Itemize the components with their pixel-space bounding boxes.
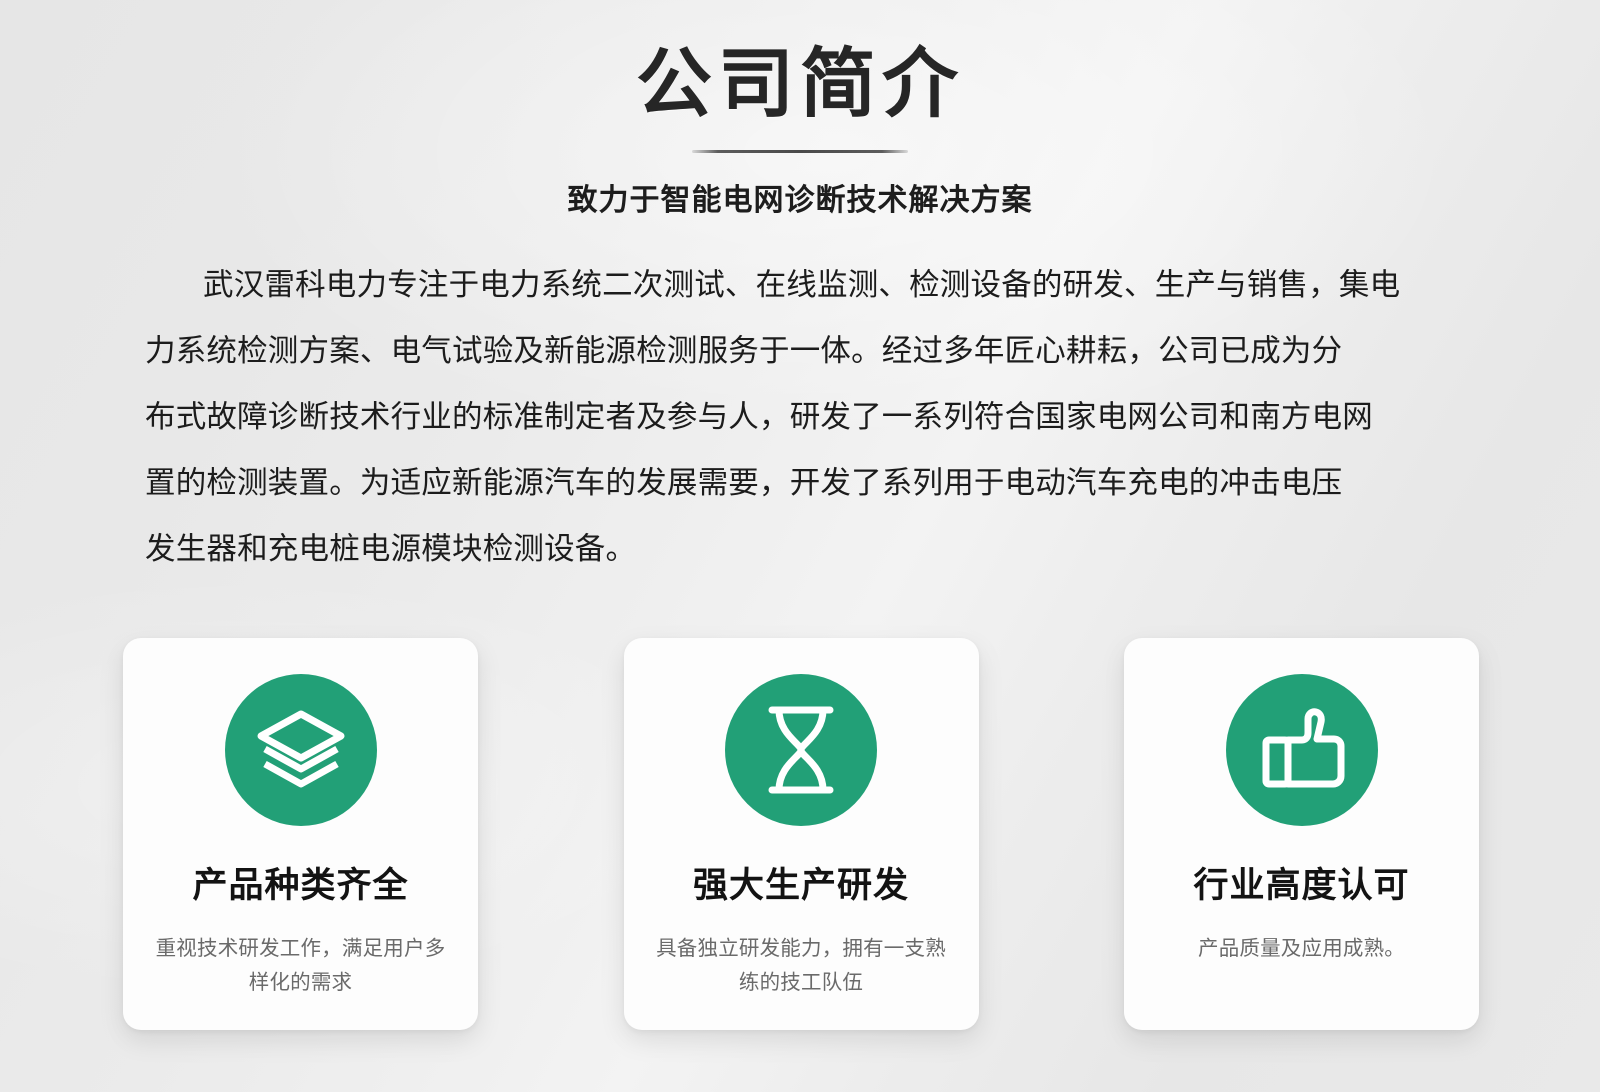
icon-badge	[725, 674, 877, 826]
feature-card-desc: 重视技术研发工作，满足用户多样化的需求	[151, 932, 451, 1000]
section-header: 公司简介 致力于智能电网诊断技术解决方案	[0, 0, 1600, 219]
feature-card-title: 产品种类齐全	[192, 857, 408, 908]
title-divider	[692, 150, 908, 153]
intro-line: 武汉雷科电力专注于电力系统二次测试、在线监测、检测设备的研发、生产与销售，集电	[145, 252, 1455, 318]
feature-card-desc: 具备独立研发能力，拥有一支熟练的技工队伍	[651, 932, 951, 1000]
page-root: 公司简介 致力于智能电网诊断技术解决方案 武汉雷科电力专注于电力系统二次测试、在…	[0, 0, 1600, 1092]
intro-line: 布式故障诊断技术行业的标准制定者及参与人，研发了一系列符合国家电网公司和南方电网	[145, 384, 1455, 450]
icon-badge	[225, 674, 377, 826]
feature-card[interactable]: 产品种类齐全 重视技术研发工作，满足用户多样化的需求	[123, 638, 478, 1030]
layers-icon	[255, 708, 347, 792]
intro-line: 力系统检测方案、电气试验及新能源检测服务于一体。经过多年匠心耕耘，公司已成为分	[145, 318, 1455, 384]
feature-card-list: 产品种类齐全 重视技术研发工作，满足用户多样化的需求	[123, 638, 1479, 1030]
page-subtitle: 致力于智能电网诊断技术解决方案	[0, 175, 1600, 219]
feature-card-desc: 产品质量及应用成熟。	[1152, 932, 1452, 966]
intro-line: 置的检测装置。为适应新能源汽车的发展需要，开发了系列用于电动汽车充电的冲击电压	[145, 450, 1455, 516]
company-intro-paragraph: 武汉雷科电力专注于电力系统二次测试、在线监测、检测设备的研发、生产与销售，集电 …	[145, 252, 1455, 582]
feature-card[interactable]: 行业高度认可 产品质量及应用成熟。	[1124, 638, 1479, 1030]
intro-line: 发生器和充电桩电源模块检测设备。	[145, 516, 1455, 582]
feature-card[interactable]: 强大生产研发 具备独立研发能力，拥有一支熟练的技工队伍	[624, 638, 979, 1030]
thumbs-up-icon	[1258, 706, 1346, 794]
feature-card-title: 行业高度认可	[1193, 857, 1409, 908]
feature-card-title: 强大生产研发	[693, 857, 909, 908]
hourglass-icon	[762, 704, 840, 796]
icon-badge	[1226, 674, 1378, 826]
page-title: 公司简介	[0, 44, 1600, 126]
